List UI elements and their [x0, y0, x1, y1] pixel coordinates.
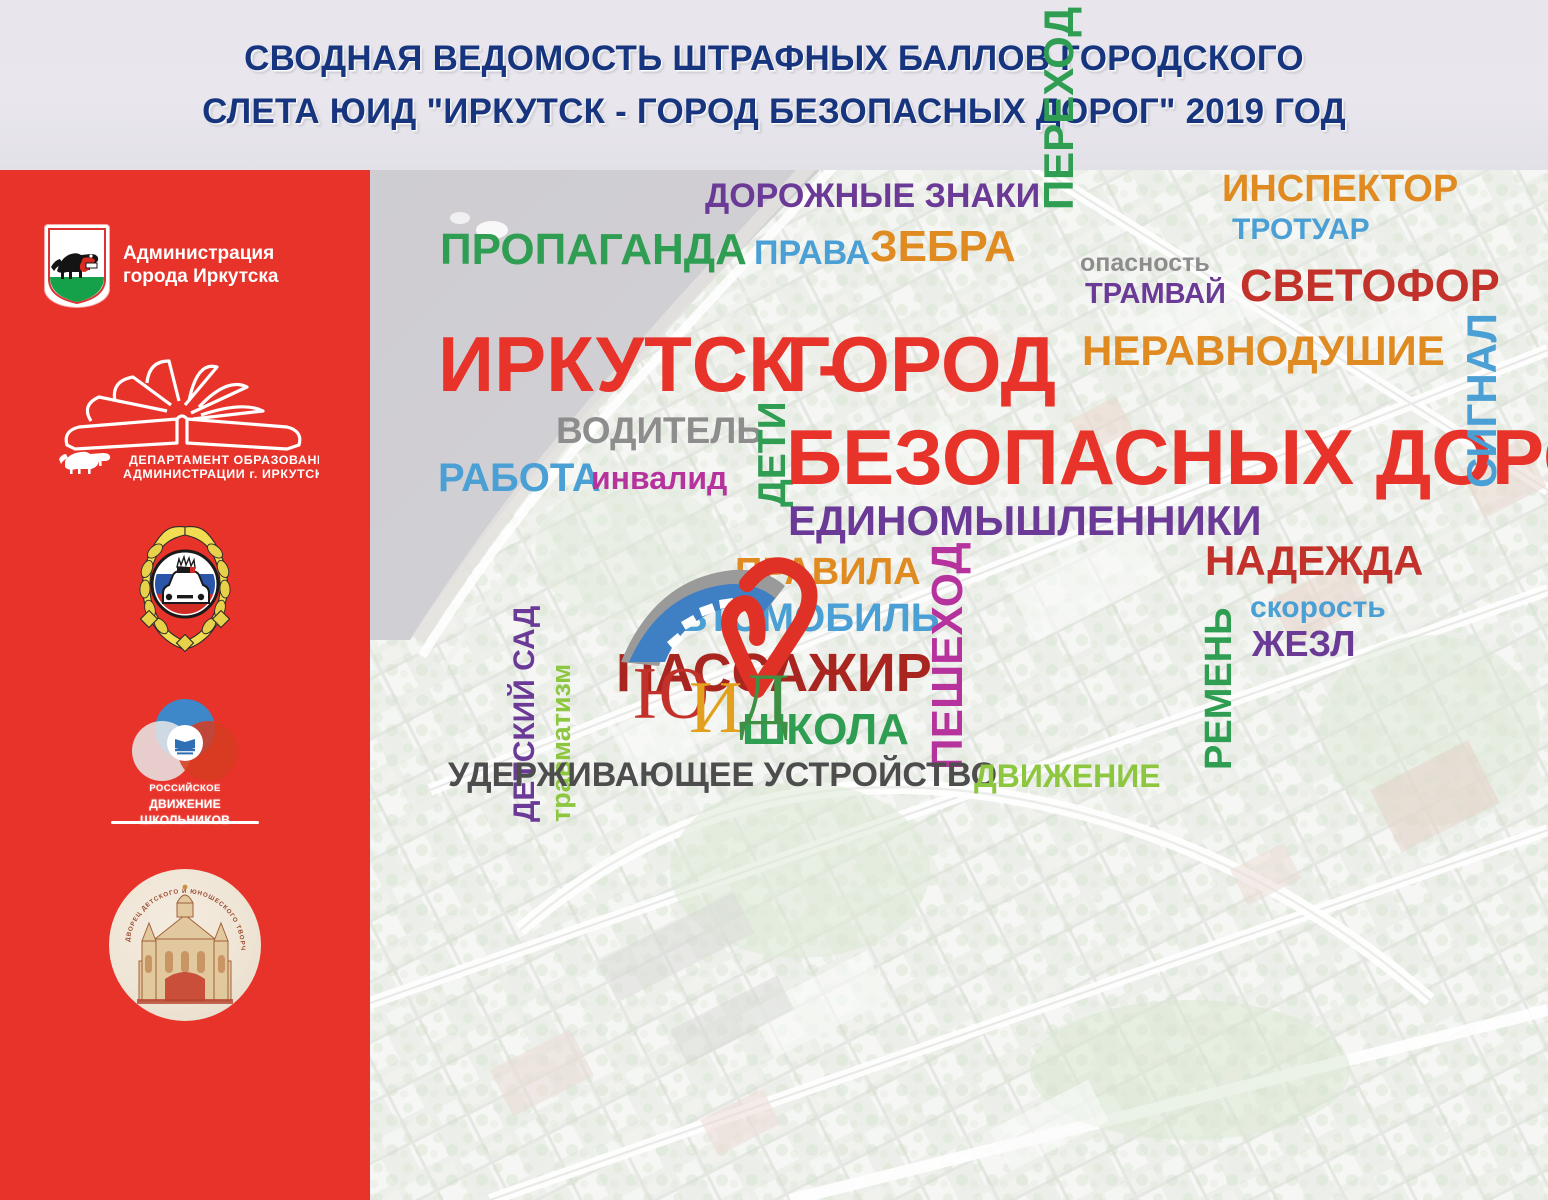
cloud-word: БЕЗОПАСНЫХ ДОРОГ: [786, 418, 1548, 496]
cloud-word: ИНСПЕКТОР: [1222, 170, 1458, 208]
cloud-word: СИГНАЛ: [1461, 313, 1503, 488]
word-cloud: ДОРОЖНЫЕ ЗНАКИПРОПАГАНДАПРАВАЗЕБРАИНСПЕК…: [370, 170, 1548, 1200]
cloud-word: НАДЕЖДА: [1205, 540, 1423, 582]
cloud-word: ЕДИНОМЫШЛЕННИКИ: [788, 500, 1262, 542]
cloud-word: ТРАМВАЙ: [1085, 280, 1226, 309]
rdsh-logo: РОССИЙСКОЕ ДВИЖЕНИЕ ШКОЛЬНИКОВ: [105, 699, 265, 829]
rdsh-underline: [111, 821, 259, 824]
rdsh-line-1: РОССИЙСКОЕ: [105, 783, 265, 796]
cloud-word: ГОРОД: [786, 325, 1056, 403]
cloud-word: ПРАВА: [754, 236, 870, 270]
administration-logo: Администрация города Иркутска: [45, 225, 325, 307]
cloud-word: ПЕШЕХОД: [926, 542, 970, 770]
cloud-word: инвалид: [591, 462, 727, 494]
administration-line-1: Администрация: [123, 243, 278, 266]
coat-of-arms-svg: [47, 227, 107, 305]
gibdd-wreath-car-icon: [119, 521, 251, 653]
cloud-word: ЖЕЗЛ: [1252, 626, 1355, 662]
poster-root: СВОДНАЯ ВЕДОМОСТЬ ШТРАФНЫХ БАЛЛОВ ГОРОДС…: [0, 0, 1548, 1200]
palace-building-seal-icon: ДВОРЕЦ ДЕТСКОГО И ЮНОШЕСКОГО ТВОРЧЕСТВА …: [109, 869, 261, 1021]
gibdd-logo: [119, 521, 251, 653]
page-title-line-2: СЛЕТА ЮИД "ИРКУТСК - ГОРОД БЕЗОПАСНЫХ ДО…: [202, 92, 1346, 131]
cloud-word: РЕМЕНЬ: [1200, 608, 1238, 770]
department-line-2: АДМИНИСТРАЦИИ г. ИРКУТСКА: [123, 467, 319, 481]
department-education-logo: ДЕПАРТАМЕНТ ОБРАЗОВАНИЯ АДМИНИСТРАЦИИ г.…: [51, 349, 319, 481]
cloud-word: ПРОПАГАНДА: [440, 228, 747, 272]
department-line-1: ДЕПАРТАМЕНТ ОБРАЗОВАНИЯ: [129, 453, 319, 467]
svg-text:Д: Д: [739, 659, 789, 741]
cloud-word: ТРОТУАР: [1232, 215, 1370, 245]
cloud-word: скорость: [1250, 593, 1386, 623]
three-circles-book-icon: [105, 699, 265, 783]
cloud-word: УДЕРЖИВАЮЩЕЕ УСТРОЙСТВО: [448, 758, 997, 792]
irkutsk-coat-of-arms-icon: [45, 225, 109, 307]
cloud-word: ИРКУТСК -: [438, 325, 843, 403]
administration-logo-text: Администрация города Иркутска: [123, 243, 278, 289]
cloud-word: травматизм: [548, 664, 575, 822]
cloud-word: РАБОТА: [438, 458, 601, 498]
administration-line-2: города Иркутска: [123, 266, 278, 289]
page-header: СВОДНАЯ ВЕДОМОСТЬ ШТРАФНЫХ БАЛЛОВ ГОРОДС…: [0, 0, 1548, 170]
cloud-word: НЕРАВНОДУШИЕ: [1082, 330, 1445, 372]
yuid-emblem: Ю И Д: [615, 542, 825, 742]
cloud-word: ПЕРЕХОД: [1038, 7, 1080, 210]
open-book-icon: ДЕПАРТАМЕНТ ОБРАЗОВАНИЯ АДМИНИСТРАЦИИ г.…: [51, 349, 319, 481]
cloud-word: ВОДИТЕЛЬ: [556, 412, 763, 449]
svg-text:И: И: [689, 667, 742, 742]
cloud-word: ЗЕБРА: [870, 225, 1016, 269]
cloud-word: ДОРОЖНЫЕ ЗНАКИ: [705, 179, 1040, 213]
palace-creativity-logo: ДВОРЕЦ ДЕТСКОГО И ЮНОШЕСКОГО ТВОРЧЕСТВА …: [109, 869, 261, 1021]
cloud-word: опасность: [1080, 251, 1210, 276]
sponsors-sidebar: Администрация города Иркутска: [0, 170, 370, 1200]
page-title-line-1: СВОДНАЯ ВЕДОМОСТЬ ШТРАФНЫХ БАЛЛОВ ГОРОДС…: [244, 39, 1304, 78]
cloud-word: ДВИЖЕНИЕ: [974, 760, 1161, 792]
cloud-word: СВЕТОФОР: [1240, 263, 1500, 308]
